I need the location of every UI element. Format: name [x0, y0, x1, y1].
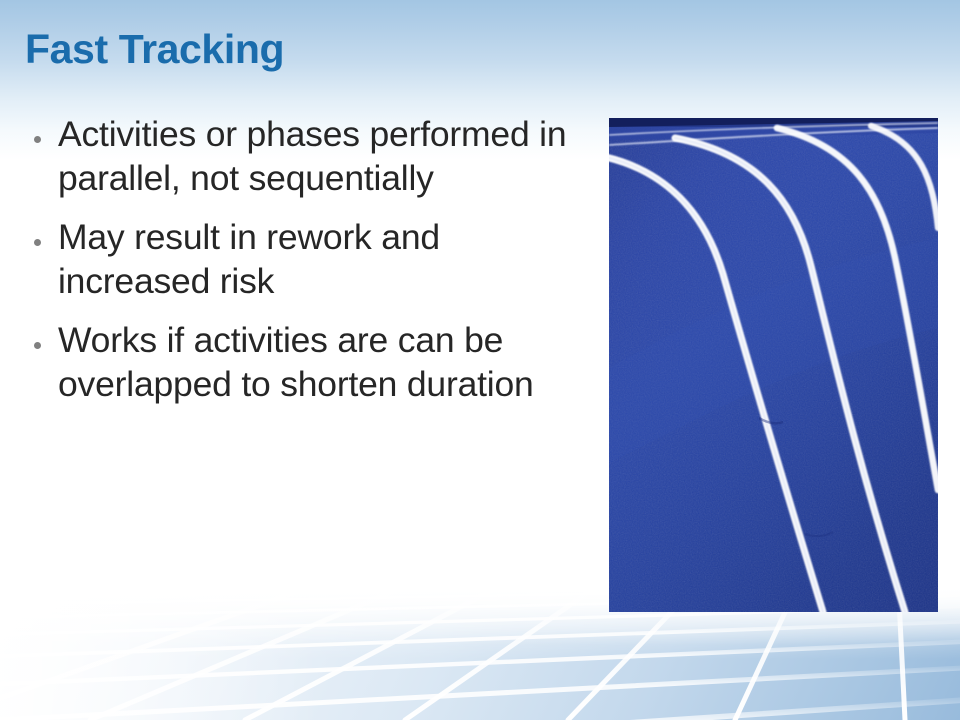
bullet-text: Activities or phases performed in parall…	[58, 112, 574, 201]
list-item: May result in rework and increased risk	[34, 215, 574, 304]
list-item: Activities or phases performed in parall…	[34, 112, 574, 201]
bullet-text: Works if activities are can be overlappe…	[58, 318, 574, 407]
bullet-dot-icon	[34, 136, 41, 143]
list-item: Works if activities are can be overlappe…	[34, 318, 574, 407]
bullet-dot-icon	[34, 239, 41, 246]
slide: Fast Tracking Activities or phases perfo…	[0, 0, 960, 720]
page-title: Fast Tracking	[25, 26, 284, 73]
running-track-photo	[609, 118, 938, 612]
running-track-illustration	[609, 118, 938, 612]
bullet-list: Activities or phases performed in parall…	[34, 112, 574, 420]
bullet-text: May result in rework and increased risk	[58, 215, 574, 304]
bullet-dot-icon	[34, 342, 41, 349]
